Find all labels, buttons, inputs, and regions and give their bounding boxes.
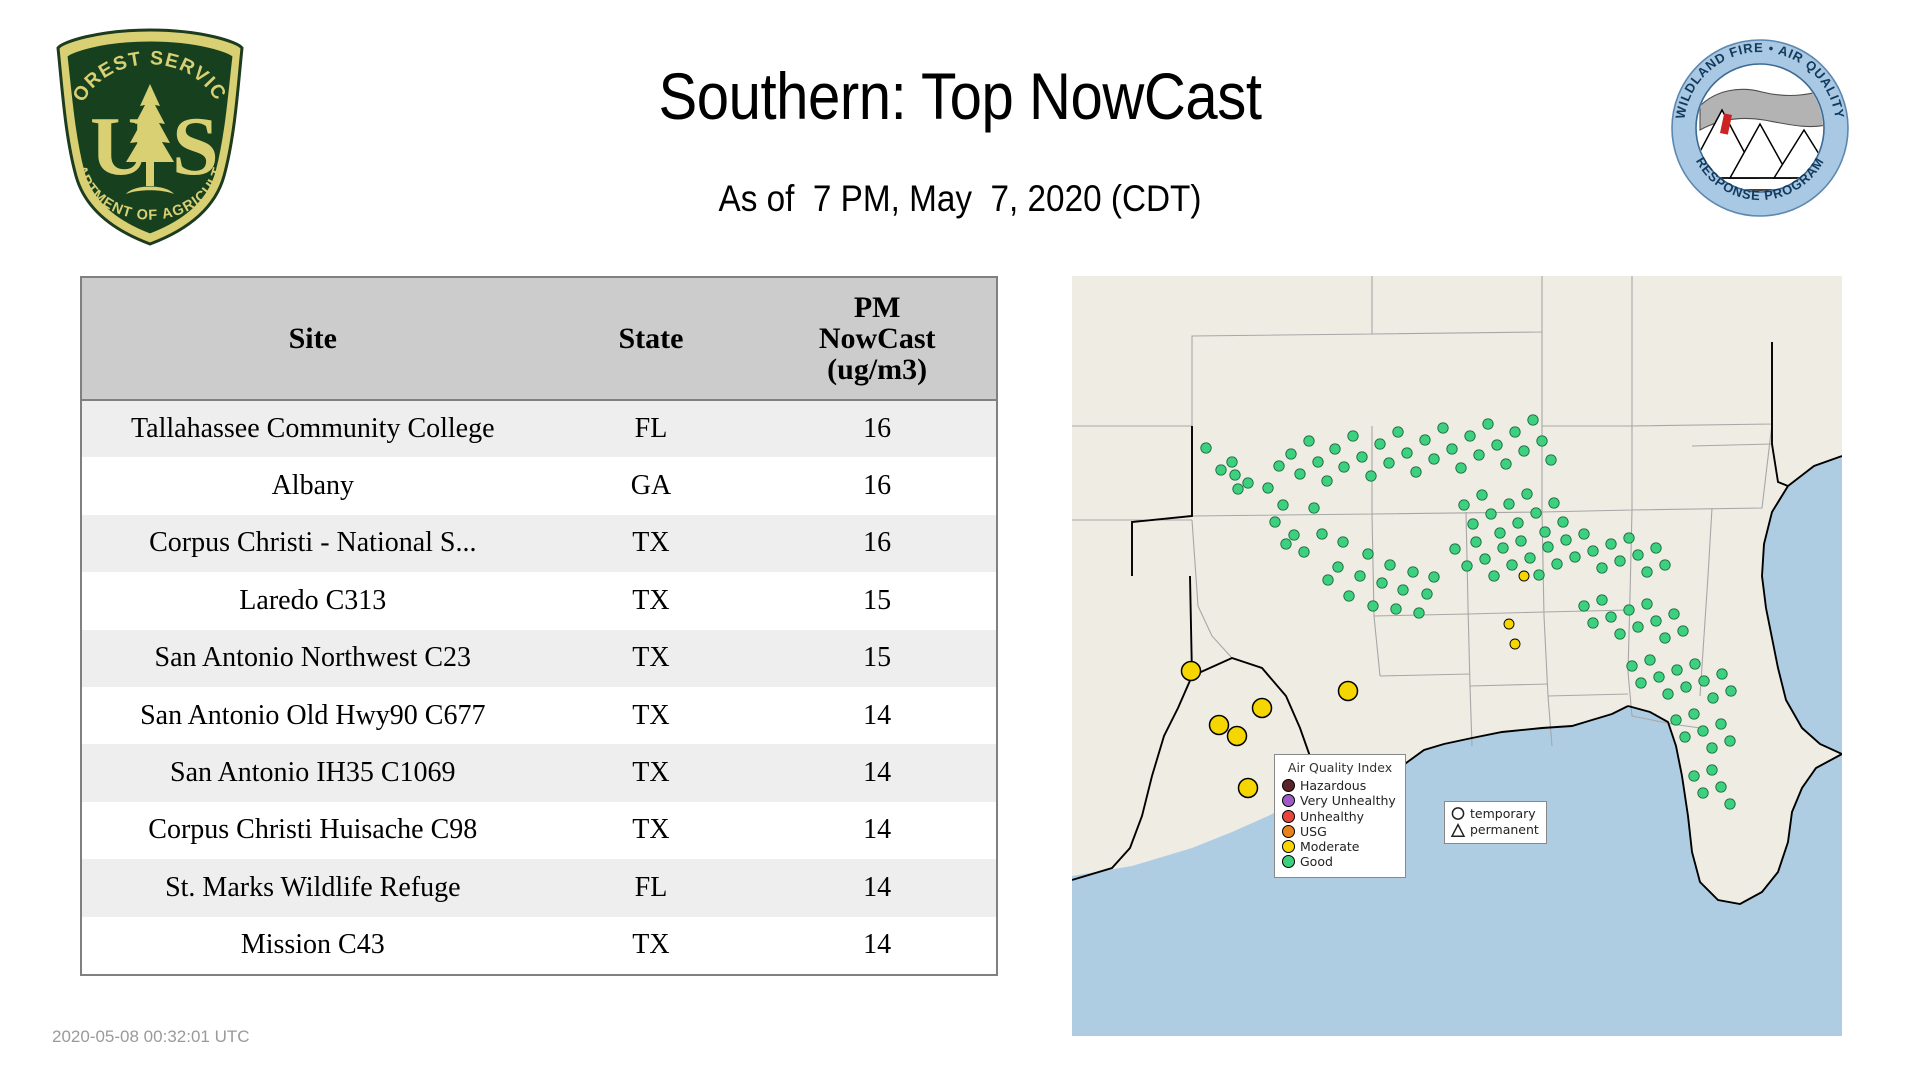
column-header-pm-nowcast[interactable]: PM NowCast (ug/m3)	[758, 278, 996, 400]
legend-item-label: Hazardous	[1300, 778, 1366, 793]
monitor-marker-good[interactable]	[1281, 539, 1291, 549]
table-row[interactable]: AlbanyGA16	[82, 457, 996, 514]
table-head: Site State PM NowCast (ug/m3)	[82, 278, 996, 400]
monitor-marker-good[interactable]	[1286, 449, 1296, 459]
monitor-marker-moderate[interactable]	[1253, 699, 1272, 718]
table-row[interactable]: San Antonio Old Hwy90 C677TX14	[82, 687, 996, 744]
monitor-marker-good[interactable]	[1278, 500, 1288, 510]
monitor-marker-good[interactable]	[1519, 446, 1529, 456]
monitor-marker-good[interactable]	[1579, 529, 1589, 539]
site-type-legend: temporary permanent	[1444, 801, 1547, 844]
pm-header-line-2: NowCast	[762, 323, 992, 354]
slide-root: FOREST SERVICE U S DEPARTMENT OF AGRICUL…	[0, 0, 1920, 1080]
monitor-marker-good[interactable]	[1725, 736, 1735, 746]
monitor-marker-good[interactable]	[1498, 543, 1508, 553]
monitor-marker-good[interactable]	[1681, 682, 1691, 692]
monitor-marker-good[interactable]	[1366, 471, 1376, 481]
monitor-marker-good[interactable]	[1480, 554, 1490, 564]
state-cell: TX	[544, 744, 759, 801]
monitor-marker-good[interactable]	[1474, 450, 1484, 460]
air-quality-index-legend: Air Quality Index HazardousVery Unhealth…	[1274, 754, 1406, 878]
monitor-marker-good[interactable]	[1456, 463, 1466, 473]
monitor-marker-good[interactable]	[1501, 459, 1511, 469]
us-forest-service-shield-logo: FOREST SERVICE U S DEPARTMENT OF AGRICUL…	[52, 26, 248, 248]
monitor-marker-good[interactable]	[1270, 517, 1280, 527]
monitor-marker-good[interactable]	[1489, 571, 1499, 581]
column-header-site[interactable]: Site	[82, 278, 544, 400]
pm-nowcast-cell: 15	[758, 572, 996, 629]
monitor-marker-good[interactable]	[1597, 595, 1607, 605]
table-row[interactable]: Corpus Christi Huisache C98TX14	[82, 802, 996, 859]
monitor-marker-good[interactable]	[1422, 589, 1432, 599]
monitor-marker-good[interactable]	[1368, 601, 1378, 611]
monitor-marker-good[interactable]	[1339, 462, 1349, 472]
monitor-marker-good[interactable]	[1543, 542, 1553, 552]
legend-item: Hazardous	[1282, 778, 1398, 793]
pm-header-line-1: PM	[762, 292, 992, 323]
monitor-marker-good[interactable]	[1429, 454, 1439, 464]
legend-swatch-icon	[1282, 794, 1295, 807]
temporary-circle-icon	[1450, 805, 1466, 822]
pm-nowcast-cell: 15	[758, 630, 996, 687]
monitor-marker-good[interactable]	[1295, 469, 1305, 479]
monitor-marker-good[interactable]	[1323, 575, 1333, 585]
state-cell: TX	[544, 630, 759, 687]
monitor-marker-good[interactable]	[1471, 537, 1481, 547]
monitor-marker-good[interactable]	[1725, 799, 1735, 809]
legend-item-label: Very Unhealthy	[1300, 793, 1396, 808]
state-cell: TX	[544, 572, 759, 629]
site-cell: San Antonio Northwest C23	[82, 630, 544, 687]
monitor-marker-good[interactable]	[1522, 489, 1532, 499]
pm-nowcast-cell: 14	[758, 744, 996, 801]
monitor-marker-good[interactable]	[1495, 528, 1505, 538]
monitor-marker-good[interactable]	[1651, 543, 1661, 553]
monitor-marker-good[interactable]	[1660, 560, 1670, 570]
table-body: Tallahassee Community CollegeFL16AlbanyG…	[82, 400, 996, 974]
state-cell: FL	[544, 400, 759, 457]
monitor-marker-good[interactable]	[1689, 771, 1699, 781]
monitor-marker-good[interactable]	[1615, 556, 1625, 566]
site-cell: Albany	[82, 457, 544, 514]
legend-swatch-icon	[1282, 825, 1295, 838]
monitor-marker-moderate[interactable]	[1504, 619, 1514, 629]
monitor-marker-good[interactable]	[1274, 461, 1284, 471]
monitor-marker-good[interactable]	[1468, 519, 1478, 529]
legend-title: Air Quality Index	[1282, 760, 1398, 775]
monitor-marker-moderate[interactable]	[1228, 727, 1247, 746]
monitor-marker-good[interactable]	[1561, 535, 1571, 545]
monitor-marker-good[interactable]	[1363, 549, 1373, 559]
monitor-marker-good[interactable]	[1477, 490, 1487, 500]
legend-item: Very Unhealthy	[1282, 793, 1398, 808]
state-cell: TX	[544, 515, 759, 572]
legend-item: Moderate	[1282, 839, 1398, 854]
monitor-marker-good[interactable]	[1642, 567, 1652, 577]
monitor-marker-good[interactable]	[1597, 563, 1607, 573]
pm-nowcast-cell: 16	[758, 400, 996, 457]
monitor-marker-good[interactable]	[1633, 550, 1643, 560]
monitor-marker-good[interactable]	[1707, 765, 1717, 775]
site-type-labels: temporary permanent	[1470, 806, 1539, 837]
legend-item-label: Unhealthy	[1300, 809, 1364, 824]
site-cell: Corpus Christi Huisache C98	[82, 802, 544, 859]
legend-item: Unhealthy	[1282, 809, 1398, 824]
site-cell: Corpus Christi - National S...	[82, 515, 544, 572]
monitor-marker-good[interactable]	[1450, 544, 1460, 554]
monitor-marker-good[interactable]	[1462, 561, 1472, 571]
pm-header-line-3: (ug/m3)	[762, 354, 992, 385]
monitor-marker-good[interactable]	[1606, 539, 1616, 549]
monitor-marker-good[interactable]	[1420, 435, 1430, 445]
temporary-label: temporary	[1470, 806, 1539, 822]
monitor-marker-good[interactable]	[1645, 655, 1655, 665]
site-cell: San Antonio Old Hwy90 C677	[82, 687, 544, 744]
monitor-marker-good[interactable]	[1651, 616, 1661, 626]
monitor-marker-good[interactable]	[1579, 601, 1589, 611]
monitor-marker-good[interactable]	[1549, 498, 1559, 508]
table-header-row: Site State PM NowCast (ug/m3)	[82, 278, 996, 400]
monitor-marker-good[interactable]	[1606, 612, 1616, 622]
pm-nowcast-cell: 16	[758, 457, 996, 514]
monitor-marker-good[interactable]	[1330, 444, 1340, 454]
monitor-marker-good[interactable]	[1438, 423, 1448, 433]
monitor-marker-moderate[interactable]	[1182, 662, 1201, 681]
monitor-marker-good[interactable]	[1313, 457, 1323, 467]
legend-rows: HazardousVery UnhealthyUnhealthyUSGModer…	[1282, 778, 1398, 870]
page-subtitle: As of 7 PM, May 7, 2020 (CDT)	[366, 178, 1554, 220]
legend-item-label: Good	[1300, 854, 1333, 869]
monitor-marker-good[interactable]	[1304, 436, 1314, 446]
monitor-marker-good[interactable]	[1201, 443, 1211, 453]
monitor-marker-good[interactable]	[1507, 560, 1517, 570]
monitor-marker-good[interactable]	[1699, 676, 1709, 686]
monitor-marker-good[interactable]	[1504, 499, 1514, 509]
pm-nowcast-cell: 14	[758, 917, 996, 974]
monitor-marker-good[interactable]	[1486, 509, 1496, 519]
legend-swatch-icon	[1282, 810, 1295, 823]
pm-nowcast-cell: 14	[758, 802, 996, 859]
monitor-marker-good[interactable]	[1414, 608, 1424, 618]
monitor-marker-good[interactable]	[1459, 500, 1469, 510]
monitor-marker-good[interactable]	[1393, 427, 1403, 437]
top-nowcast-table-container: Site State PM NowCast (ug/m3) Tallahasse…	[80, 276, 998, 976]
monitor-marker-good[interactable]	[1716, 782, 1726, 792]
monitor-marker-good[interactable]	[1299, 547, 1309, 557]
monitor-marker-good[interactable]	[1716, 719, 1726, 729]
pm-nowcast-cell: 14	[758, 859, 996, 916]
monitor-marker-moderate[interactable]	[1339, 682, 1358, 701]
monitor-marker-good[interactable]	[1398, 585, 1408, 595]
monitor-marker-good[interactable]	[1408, 567, 1418, 577]
monitor-marker-good[interactable]	[1558, 517, 1568, 527]
pm-nowcast-cell: 14	[758, 687, 996, 744]
monitor-marker-moderate[interactable]	[1519, 571, 1529, 581]
monitor-marker-moderate[interactable]	[1510, 639, 1520, 649]
monitor-marker-good[interactable]	[1540, 527, 1550, 537]
monitor-marker-good[interactable]	[1513, 518, 1523, 528]
monitor-marker-good[interactable]	[1525, 553, 1535, 563]
monitor-marker-good[interactable]	[1402, 448, 1412, 458]
monitor-marker-good[interactable]	[1317, 529, 1327, 539]
monitor-marker-good[interactable]	[1263, 483, 1273, 493]
monitor-marker-good[interactable]	[1333, 562, 1343, 572]
monitor-marker-good[interactable]	[1338, 537, 1348, 547]
monitor-marker-good[interactable]	[1344, 591, 1354, 601]
legend-item: Good	[1282, 854, 1398, 869]
monitor-marker-good[interactable]	[1309, 503, 1319, 513]
monitor-marker-good[interactable]	[1678, 626, 1688, 636]
pm-nowcast-cell: 16	[758, 515, 996, 572]
legend-swatch-icon	[1282, 855, 1295, 868]
monitor-marker-good[interactable]	[1660, 633, 1670, 643]
monitor-marker-good[interactable]	[1528, 415, 1538, 425]
monitor-marker-good[interactable]	[1534, 570, 1544, 580]
monitor-marker-good[interactable]	[1588, 618, 1598, 628]
monitor-marker-good[interactable]	[1570, 552, 1580, 562]
monitor-marker-good[interactable]	[1429, 572, 1439, 582]
monitor-marker-good[interactable]	[1516, 536, 1526, 546]
monitor-marker-good[interactable]	[1492, 440, 1502, 450]
monitor-marker-good[interactable]	[1227, 457, 1237, 467]
southern-region-map[interactable]: Air Quality Index HazardousVery Unhealth…	[1072, 276, 1842, 1036]
page-title: Southern: Top NowCast	[379, 58, 1541, 134]
state-cell: TX	[544, 917, 759, 974]
monitor-marker-good[interactable]	[1627, 661, 1637, 671]
monitor-marker-good[interactable]	[1230, 470, 1240, 480]
monitor-marker-good[interactable]	[1531, 508, 1541, 518]
monitor-marker-good[interactable]	[1552, 559, 1562, 569]
table-row[interactable]: Mission C43TX14	[82, 917, 996, 974]
state-cell: TX	[544, 687, 759, 744]
table-row[interactable]: St. Marks Wildlife RefugeFL14	[82, 859, 996, 916]
monitor-marker-good[interactable]	[1385, 560, 1395, 570]
table-row[interactable]: Laredo C313TX15	[82, 572, 996, 629]
permanent-triangle-icon	[1450, 822, 1466, 839]
monitor-marker-good[interactable]	[1624, 533, 1634, 543]
monitor-marker-good[interactable]	[1717, 669, 1727, 679]
monitor-marker-good[interactable]	[1355, 571, 1365, 581]
monitor-marker-good[interactable]	[1447, 444, 1457, 454]
monitor-marker-good[interactable]	[1663, 689, 1673, 699]
state-cell: GA	[544, 457, 759, 514]
monitor-marker-good[interactable]	[1615, 629, 1625, 639]
monitor-marker-good[interactable]	[1537, 436, 1547, 446]
table-row[interactable]: Tallahassee Community CollegeFL16	[82, 400, 996, 457]
monitor-marker-good[interactable]	[1465, 431, 1475, 441]
site-cell: Tallahassee Community College	[82, 400, 544, 457]
wfaqrp-seal-logo: WILDLAND FIRE • AIR QUALITY RESPONSE PRO…	[1670, 38, 1850, 218]
monitor-marker-good[interactable]	[1216, 465, 1226, 475]
monitor-marker-good[interactable]	[1708, 693, 1718, 703]
legend-swatch-icon	[1282, 779, 1295, 792]
monitor-marker-good[interactable]	[1654, 672, 1664, 682]
monitor-marker-good[interactable]	[1642, 599, 1652, 609]
state-cell: TX	[544, 802, 759, 859]
monitor-marker-moderate[interactable]	[1210, 716, 1229, 735]
state-cell: FL	[544, 859, 759, 916]
monitor-marker-good[interactable]	[1243, 478, 1253, 488]
monitor-marker-good[interactable]	[1391, 604, 1401, 614]
site-cell: San Antonio IH35 C1069	[82, 744, 544, 801]
monitor-marker-good[interactable]	[1348, 431, 1358, 441]
legend-item: USG	[1282, 824, 1398, 839]
monitor-marker-good[interactable]	[1690, 659, 1700, 669]
monitor-marker-good[interactable]	[1624, 605, 1634, 615]
monitor-marker-good[interactable]	[1375, 439, 1385, 449]
monitor-marker-good[interactable]	[1233, 484, 1243, 494]
monitor-marker-good[interactable]	[1636, 678, 1646, 688]
monitor-marker-good[interactable]	[1510, 427, 1520, 437]
legend-item-label: Moderate	[1300, 839, 1359, 854]
monitor-marker-good[interactable]	[1698, 726, 1708, 736]
site-cell: St. Marks Wildlife Refuge	[82, 859, 544, 916]
top-nowcast-table: Site State PM NowCast (ug/m3) Tallahasse…	[82, 278, 996, 974]
site-cell: Laredo C313	[82, 572, 544, 629]
monitor-marker-good[interactable]	[1689, 709, 1699, 719]
monitor-marker-good[interactable]	[1357, 452, 1367, 462]
monitor-marker-good[interactable]	[1726, 686, 1736, 696]
monitor-marker-good[interactable]	[1322, 476, 1332, 486]
table-row[interactable]: San Antonio IH35 C1069TX14	[82, 744, 996, 801]
monitor-marker-good[interactable]	[1672, 665, 1682, 675]
monitor-marker-good[interactable]	[1671, 715, 1681, 725]
legend-item-label: USG	[1300, 824, 1327, 839]
monitor-marker-good[interactable]	[1698, 788, 1708, 798]
monitor-marker-good[interactable]	[1483, 419, 1493, 429]
monitor-marker-good[interactable]	[1669, 609, 1679, 619]
monitor-marker-good[interactable]	[1588, 546, 1598, 556]
monitor-marker-moderate[interactable]	[1239, 779, 1258, 798]
monitor-marker-good[interactable]	[1289, 530, 1299, 540]
site-type-glyphs	[1450, 805, 1466, 839]
monitor-marker-good[interactable]	[1633, 622, 1643, 632]
monitor-marker-good[interactable]	[1384, 458, 1394, 468]
monitor-marker-good[interactable]	[1411, 467, 1421, 477]
monitor-marker-good[interactable]	[1546, 455, 1556, 465]
table-row[interactable]: Corpus Christi - National S...TX16	[82, 515, 996, 572]
table-row[interactable]: San Antonio Northwest C23TX15	[82, 630, 996, 687]
legend-swatch-icon	[1282, 840, 1295, 853]
monitor-marker-good[interactable]	[1707, 743, 1717, 753]
monitor-marker-good[interactable]	[1680, 732, 1690, 742]
generated-timestamp: 2020-05-08 00:32:01 UTC	[52, 1027, 250, 1047]
column-header-state[interactable]: State	[544, 278, 759, 400]
permanent-label: permanent	[1470, 822, 1539, 838]
monitor-marker-good[interactable]	[1377, 578, 1387, 588]
site-cell: Mission C43	[82, 917, 544, 974]
